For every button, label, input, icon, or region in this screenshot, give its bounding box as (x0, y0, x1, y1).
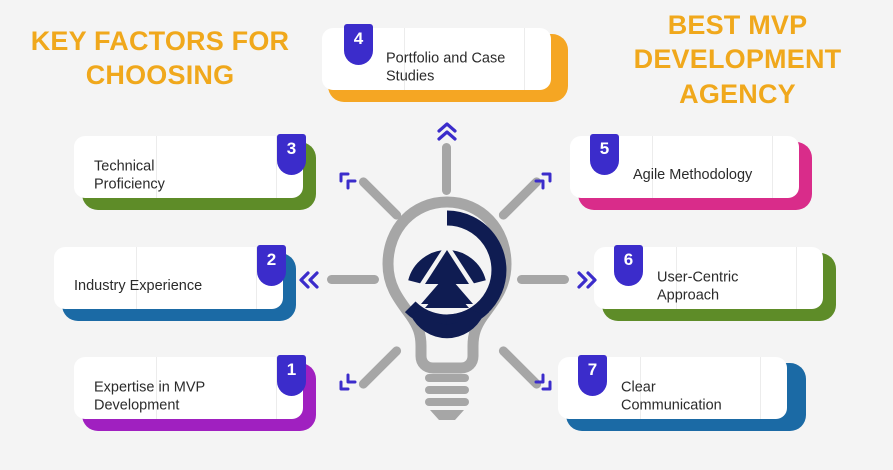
factor-card-1[interactable]: 1 Expertise in MVP Development (82, 363, 316, 431)
card-label: Technical Proficiency (94, 158, 165, 193)
factor-card-7[interactable]: 7 Clear Communication (566, 363, 806, 431)
factor-card-3[interactable]: 3 Technical Proficiency (82, 142, 316, 210)
bulb-ridge-3 (425, 398, 469, 406)
corner-arrow-top-left-icon (337, 170, 361, 194)
bulb-ridge-1 (425, 374, 469, 382)
connector-bar (327, 275, 379, 284)
card-label: Expertise in MVP Development (94, 379, 205, 414)
factor-card-5[interactable]: 5 Agile Methodology (578, 142, 812, 210)
card-number-badge: 4 (344, 24, 373, 65)
title-left: KEY FACTORS FOR CHOOSING (10, 24, 310, 93)
chevron-left-icon (298, 270, 322, 294)
bulb-tip (430, 410, 464, 420)
chevron-up-glyph (436, 122, 458, 142)
card-number-badge: 6 (614, 245, 643, 286)
card-number-badge: 1 (277, 355, 306, 396)
connector-bar (442, 143, 451, 195)
card-number-badge: 3 (277, 134, 306, 175)
card-number-badge: 2 (257, 245, 286, 286)
bulb-ridge-2 (425, 386, 469, 394)
card-number-badge: 7 (578, 355, 607, 396)
card-label: User-Centric Approach (657, 269, 738, 304)
factor-card-6[interactable]: 6 User-Centric Approach (602, 253, 836, 321)
lightbulb-icon (373, 196, 521, 424)
factor-card-2[interactable]: 2 Industry Experience (62, 253, 296, 321)
connector-bar (517, 275, 569, 284)
card-label: Agile Methodology (633, 167, 752, 185)
factor-card-4[interactable]: 4 Portfolio and Case Studies (328, 34, 568, 102)
chevron-right-icon (574, 270, 598, 294)
chevron-right-glyph (574, 270, 598, 290)
card-number-badge: 5 (590, 134, 619, 175)
chevron-up-icon (436, 122, 458, 146)
title-right: BEST MVP DEVELOPMENT AGENCY (585, 8, 890, 111)
card-label: Clear Communication (621, 379, 722, 414)
corner-arrow-bottom-left-icon (337, 369, 361, 393)
card-label: Industry Experience (74, 278, 202, 296)
corner-arrow-bottom-right-icon (530, 369, 554, 393)
infographic-canvas: KEY FACTORS FOR CHOOSING BEST MVP DEVELO… (0, 0, 893, 470)
card-label: Portfolio and Case Studies (386, 50, 505, 85)
corner-arrow-top-right-icon (530, 170, 554, 194)
chevron-left-glyph (298, 270, 322, 290)
